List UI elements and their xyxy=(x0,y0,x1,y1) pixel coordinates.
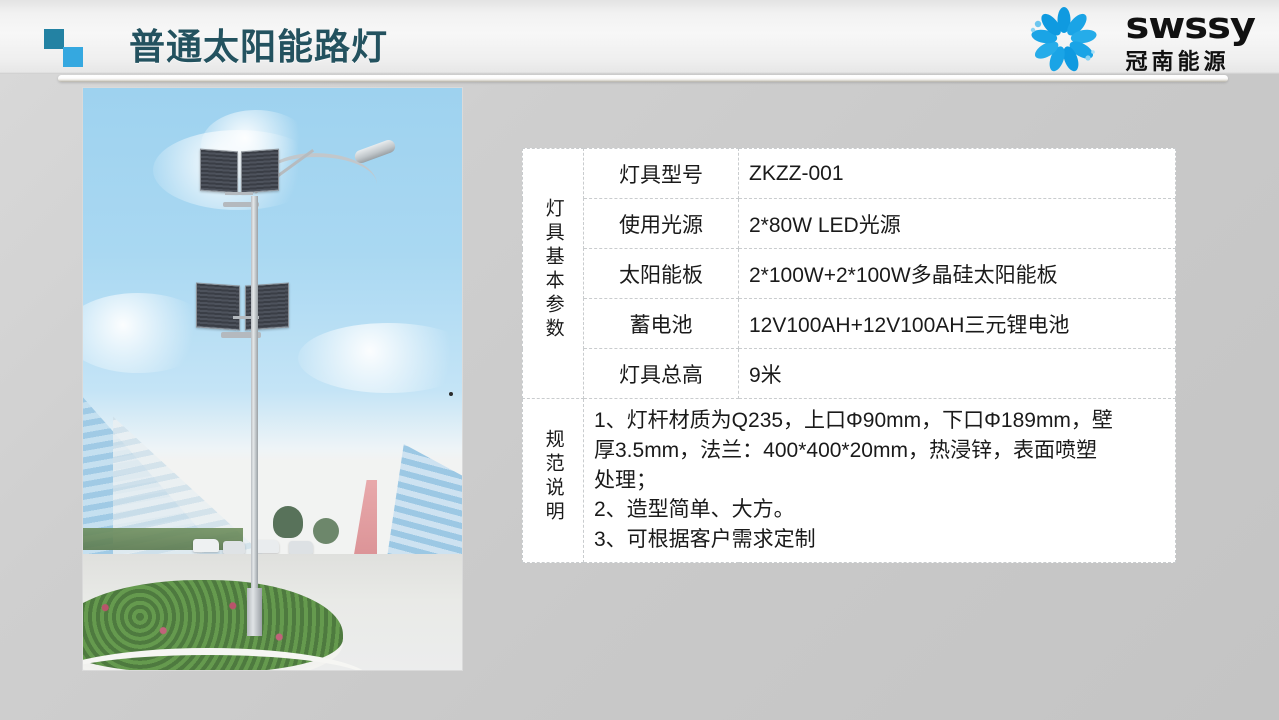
table-row-notes: 规范说明 1、灯杆材质为Q235，上口Φ90mm，下口Φ189mm，壁 厚3.5… xyxy=(523,399,1176,563)
note-line: 厚3.5mm，法兰：400*400*20mm，热浸锌，表面喷塑 xyxy=(594,436,1165,466)
group-label-basic: 灯具基本参数 xyxy=(523,149,584,399)
car-shape xyxy=(289,541,313,554)
lamp-head xyxy=(353,138,397,165)
brand-logo: swssy 冠南能源 xyxy=(1012,6,1255,73)
table-row: 太阳能板 2*100W+2*100W多晶硅太阳能板 xyxy=(523,249,1176,299)
row-value: 2*100W+2*100W多晶硅太阳能板 xyxy=(739,249,1176,299)
lamp-pole-base xyxy=(247,588,262,636)
notes-cell: 1、灯杆材质为Q235，上口Φ90mm，下口Φ189mm，壁 厚3.5mm，法兰… xyxy=(584,399,1176,563)
row-value: 9米 xyxy=(739,349,1176,399)
note-line: 处理； xyxy=(594,466,1165,496)
group-label-basic-text: 灯具基本参数 xyxy=(541,198,564,342)
cloud-shape xyxy=(82,293,213,373)
group-label-notes-text: 规范说明 xyxy=(541,429,564,525)
decorative-squares xyxy=(44,29,90,67)
slide-canvas: 普通太阳能路灯 xyxy=(0,0,1279,720)
logo-wordmark: swssy xyxy=(1126,8,1255,45)
solar-street-lamp-photo xyxy=(82,87,463,671)
note-line: 1、灯杆材质为Q235，上口Φ90mm，下口Φ189mm，壁 xyxy=(594,406,1165,436)
tree-shape xyxy=(313,518,339,544)
specification-table: 灯具基本参数 灯具型号 ZKZZ-001 使用光源 2*80W LED光源 太阳… xyxy=(522,148,1176,563)
table-row: 灯具总高 9米 xyxy=(523,349,1176,399)
title-divider xyxy=(58,75,1228,82)
panel-bracket xyxy=(225,192,253,195)
cloud-shape xyxy=(298,323,463,393)
logo-text-block: swssy 冠南能源 xyxy=(1126,6,1255,73)
slide-header: 普通太阳能路灯 xyxy=(0,0,1279,74)
car-shape xyxy=(193,539,219,552)
row-value: 2*80W LED光源 xyxy=(739,199,1176,249)
row-key: 太阳能板 xyxy=(584,249,739,299)
row-key: 使用光源 xyxy=(584,199,739,249)
square-light-icon xyxy=(63,47,83,67)
table-row: 蓄电池 12V100AH+12V100AH三元锂电池 xyxy=(523,299,1176,349)
square-dark-icon xyxy=(44,29,64,49)
row-value: 12V100AH+12V100AH三元锂电池 xyxy=(739,299,1176,349)
tree-shape xyxy=(273,506,303,538)
page-title: 普通太阳能路灯 xyxy=(129,18,388,70)
note-line: 2、造型简单、大方。 xyxy=(594,495,1165,525)
car-shape xyxy=(223,541,245,554)
image-artifact-dot xyxy=(449,392,453,396)
row-key: 灯具型号 xyxy=(584,149,739,199)
table-row: 使用光源 2*80W LED光源 xyxy=(523,199,1176,249)
solar-panel xyxy=(241,149,279,194)
table-row: 灯具基本参数 灯具型号 ZKZZ-001 xyxy=(523,149,1176,199)
group-label-notes: 规范说明 xyxy=(523,399,584,563)
row-key: 灯具总高 xyxy=(584,349,739,399)
photo-content xyxy=(83,88,462,670)
note-line: 3、可根据客户需求定制 xyxy=(594,525,1165,555)
water-droplet-flower-icon xyxy=(1012,7,1116,73)
logo-subtitle: 冠南能源 xyxy=(1126,51,1255,73)
solar-panel xyxy=(196,282,240,330)
row-key: 蓄电池 xyxy=(584,299,739,349)
lamp-pole xyxy=(251,196,258,636)
row-value: ZKZZ-001 xyxy=(739,149,1176,199)
solar-panel xyxy=(200,149,238,194)
